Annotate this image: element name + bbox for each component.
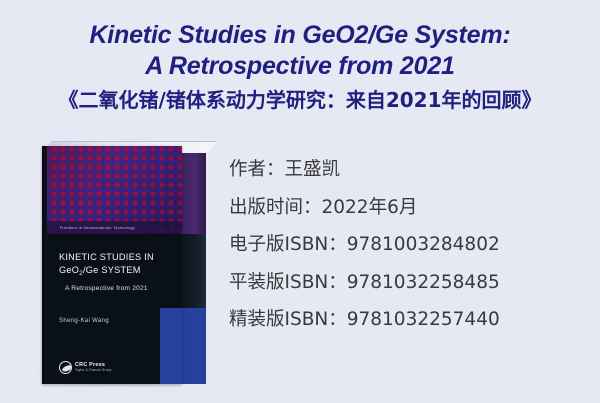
cover-title-subscript: 2: [79, 270, 83, 277]
cover-title-line1: KINETIC STUDIES IN: [59, 252, 154, 262]
book-spine-strip: [42, 146, 47, 384]
cover-title-line2-pre: GeO: [59, 265, 79, 275]
publisher-group: Taylor & Francis Group: [75, 369, 112, 373]
page-title-zh: 《二氧化锗/锗体系动力学研究：来自2021年的回顾》: [0, 87, 600, 113]
cover-series-band: Frontiers in Semiconductor Technology: [42, 221, 182, 234]
metadata-row-ebook-isbn: 电子版ISBN：9781003284802: [229, 236, 594, 255]
page-edges-upper: [178, 148, 206, 234]
cover-accent-block: [160, 308, 182, 384]
page-header: Kinetic Studies in GeO2/Ge System: A Ret…: [0, 0, 600, 113]
metadata-row-hardback-isbn: 精装版ISBN：9781032257440: [229, 311, 594, 330]
book-metadata-list: 作者：王盛凯 出版时间：2022年6月 电子版ISBN：978100328480…: [229, 161, 594, 330]
metadata-row-paperback-isbn: 平装版ISBN：9781032258485: [229, 274, 594, 293]
crc-press-logo: CRC Press Taylor & Francis Group: [59, 361, 112, 374]
page-title-en-line2: A Retrospective from 2021: [0, 51, 600, 82]
metadata-row-pubdate: 出版时间：2022年6月: [229, 199, 594, 218]
cover-series-label: Frontiers in Semiconductor Technology: [42, 225, 135, 229]
crc-logo-text: CRC Press Taylor & Francis Group: [75, 362, 112, 372]
book-cover-image: Frontiers in Semiconductor Technology KI…: [33, 141, 208, 386]
crc-swoosh-icon: [59, 361, 72, 374]
cover-lower-panel: KINETIC STUDIES IN GeO2/Ge SYSTEM A Retr…: [42, 234, 182, 384]
book-page-edges: [178, 148, 206, 384]
cover-title-line2-post: /Ge SYSTEM: [83, 265, 141, 275]
book-promo-page: { "header": { "title_en_line1": "Kinetic…: [0, 0, 600, 403]
metadata-row-author: 作者：王盛凯: [229, 161, 594, 180]
cover-subtitle: A Retrospective from 2021: [65, 285, 171, 292]
book-front-cover: Frontiers in Semiconductor Technology KI…: [42, 146, 182, 384]
page-edges-accent: [178, 308, 206, 384]
cover-author-name: Sheng-Kai Wang: [59, 318, 109, 324]
page-title-en-line1: Kinetic Studies in GeO2/Ge System:: [0, 20, 600, 51]
cover-title: KINETIC STUDIES IN GeO2/Ge SYSTEM: [59, 251, 171, 278]
